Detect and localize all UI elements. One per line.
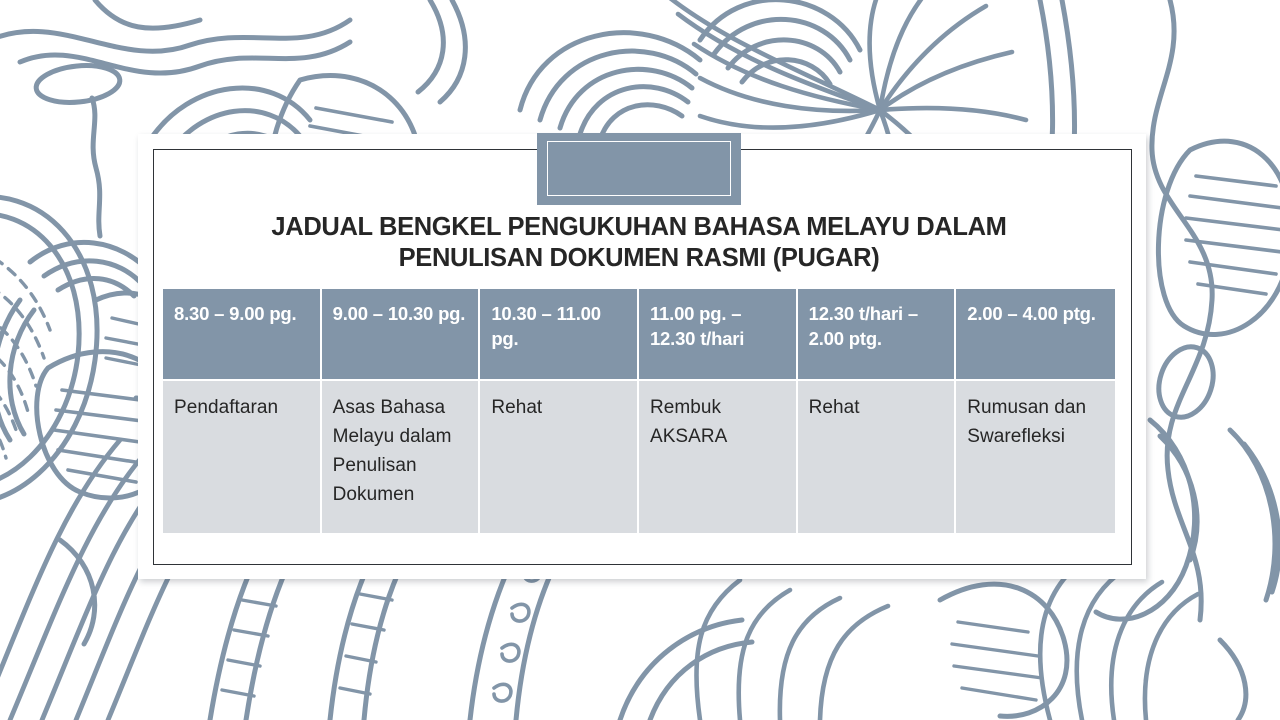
schedule-table-head: 8.30 – 9.00 pg. 9.00 – 10.30 pg. 10.30 –… xyxy=(163,289,1115,381)
page-title: JADUAL BENGKEL PENGUKUHAN BAHASA MELAYU … xyxy=(163,212,1115,274)
table-header-cell: 10.30 – 11.00 pg. xyxy=(480,289,639,381)
table-cell: Rehat xyxy=(798,381,957,533)
table-header-cell: 9.00 – 10.30 pg. xyxy=(322,289,481,381)
table-cell-text: Rembuk AKSARA xyxy=(650,393,785,451)
table-cell: Rehat xyxy=(480,381,639,533)
table-cell-text: Rehat xyxy=(809,393,944,422)
table-cell-text: Asas Bahasa Melayu dalam Penulisan Dokum… xyxy=(333,393,468,509)
table-cell: Rembuk AKSARA xyxy=(639,381,798,533)
page-title-line-2: PENULISAN DOKUMEN RASMI (PUGAR) xyxy=(163,243,1115,274)
table-header-cell: 12.30 t/hari – 2.00 ptg. xyxy=(798,289,957,381)
table-header-cell: 8.30 – 9.00 pg. xyxy=(163,289,322,381)
header-accent-tab xyxy=(537,133,741,205)
table-cell-text: Rumusan dan Swarefleksi xyxy=(967,393,1104,451)
table-cell: Asas Bahasa Melayu dalam Penulisan Dokum… xyxy=(322,381,481,533)
table-header-cell: 2.00 – 4.00 ptg. xyxy=(956,289,1115,381)
header-accent-tab-outline xyxy=(547,141,731,196)
table-cell-text: Pendaftaran xyxy=(174,393,309,422)
schedule-table: 8.30 – 9.00 pg. 9.00 – 10.30 pg. 10.30 –… xyxy=(163,289,1115,533)
schedule-table-body: Pendaftaran Asas Bahasa Melayu dalam Pen… xyxy=(163,381,1115,533)
table-header-cell: 11.00 pg. – 12.30 t/hari xyxy=(639,289,798,381)
table-cell: Pendaftaran xyxy=(163,381,322,533)
table-cell: Rumusan dan Swarefleksi xyxy=(956,381,1115,533)
presentation-slide: JADUAL BENGKEL PENGUKUHAN BAHASA MELAYU … xyxy=(0,0,1280,720)
table-cell-text: Rehat xyxy=(491,393,626,422)
table-row: Pendaftaran Asas Bahasa Melayu dalam Pen… xyxy=(163,381,1115,533)
table-header-row: 8.30 – 9.00 pg. 9.00 – 10.30 pg. 10.30 –… xyxy=(163,289,1115,381)
page-title-line-1: JADUAL BENGKEL PENGUKUHAN BAHASA MELAYU … xyxy=(163,212,1115,243)
